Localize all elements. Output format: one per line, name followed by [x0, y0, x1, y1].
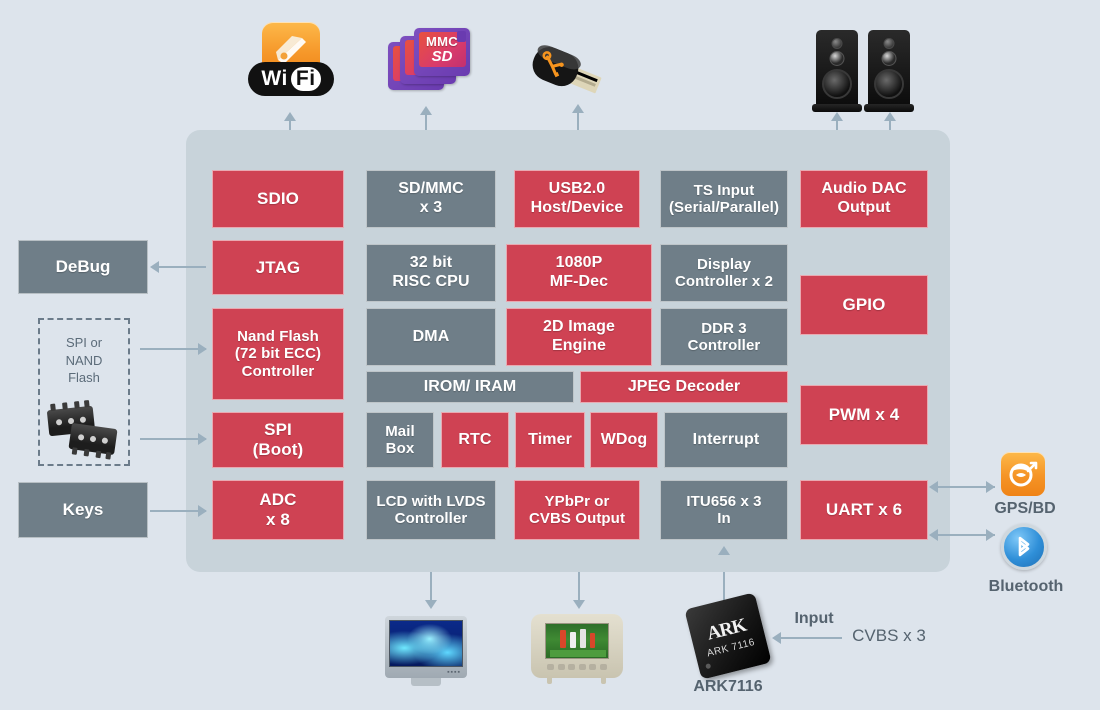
bluetooth-caption: Bluetooth	[976, 578, 1076, 596]
block-spi-boot[interactable]: SPI (Boot)	[212, 412, 344, 468]
block-interrupt[interactable]: Interrupt	[664, 412, 788, 468]
block-ddr3-controller[interactable]: DDR 3 Controller	[660, 308, 788, 366]
arrow-gps-right	[986, 481, 995, 493]
block-irom-iram[interactable]: IROM/ IRAM	[366, 371, 574, 403]
block-sdio[interactable]: SDIO	[212, 170, 344, 228]
block-adc[interactable]: ADC x 8	[212, 480, 344, 540]
arrow-tv-down	[573, 600, 585, 609]
flash-chip-icon-2	[68, 423, 117, 455]
sd-label: SD	[414, 48, 470, 65]
block-label: ITU656 x 3 In	[686, 493, 761, 528]
block-label: PWM x 4	[829, 405, 900, 425]
ext-box-keys[interactable]: Keys	[18, 482, 148, 538]
block-1080p-mf-dec[interactable]: 1080P MF-Dec	[506, 244, 652, 302]
block-ts-input[interactable]: TS Input (Serial/Parallel)	[660, 170, 788, 228]
block-label: Audio DAC Output	[821, 180, 906, 217]
block-label: 2D Image Engine	[543, 318, 615, 355]
arrow-keys-right	[198, 505, 207, 517]
block-uart[interactable]: UART x 6	[800, 480, 928, 540]
block-label: 32 bit RISC CPU	[392, 254, 469, 291]
flash-group-container: SPI or NAND Flash	[38, 318, 130, 466]
block-gpio[interactable]: GPIO	[800, 275, 928, 335]
conn-spi-boot	[140, 438, 206, 440]
block-2d-image-engine[interactable]: 2D Image Engine	[506, 308, 652, 366]
lcd-monitor-icon: ▪▪▪▪	[385, 616, 467, 678]
gps-caption: GPS/BD	[985, 500, 1065, 518]
block-label: YPbPr or CVBS Output	[529, 493, 625, 528]
gps-icon	[1001, 452, 1045, 496]
ext-box-debug[interactable]: DeBug	[18, 240, 148, 294]
conn-debug	[158, 266, 206, 268]
mmc-label: MMC	[414, 34, 470, 49]
wifi-wi-text: Wi	[261, 67, 287, 91]
block-label: RTC	[458, 431, 491, 450]
block-nand-flash-controller[interactable]: Nand Flash (72 bit ECC) Controller	[212, 308, 344, 400]
speaker-icon-right	[868, 30, 910, 112]
block-label: DMA	[413, 328, 450, 347]
block-label: JPEG Decoder	[628, 378, 740, 397]
block-label: Mail Box	[385, 423, 415, 458]
block-mail-box[interactable]: Mail Box	[366, 412, 434, 468]
conn-itu656	[723, 572, 725, 602]
block-sd-mmc[interactable]: SD/MMC x 3	[366, 170, 496, 228]
arrow-cvbs-left	[772, 632, 781, 644]
block-label: GPIO	[843, 295, 886, 315]
arrow-nand-right	[198, 343, 207, 355]
block-label: 1080P MF-Dec	[550, 254, 608, 291]
wifi-wordmark: Wi Fi	[248, 62, 334, 96]
block-pwm[interactable]: PWM x 4	[800, 385, 928, 445]
bluetooth-icon	[1001, 524, 1047, 570]
block-label: DDR 3 Controller	[688, 320, 761, 355]
cvbs-label: CVBS x 3	[844, 626, 934, 646]
block-usb2-host-device[interactable]: USB2.0 Host/Device	[514, 170, 640, 228]
chip-icon: ARK ARK 7116	[684, 592, 771, 679]
conn-spi-nand	[140, 348, 206, 350]
block-jpeg-decoder[interactable]: JPEG Decoder	[580, 371, 788, 403]
block-audio-dac-output[interactable]: Audio DAC Output	[800, 170, 928, 228]
block-risc-cpu[interactable]: 32 bit RISC CPU	[366, 244, 496, 302]
conn-cvbs	[780, 637, 842, 639]
block-label: ADC x 8	[259, 490, 296, 529]
arrow-lcd-down	[425, 600, 437, 609]
arrow-bt-right	[986, 529, 995, 541]
diagram-canvas: Wi Fi MMC SD	[0, 0, 1100, 710]
input-label: Input	[784, 610, 844, 628]
chip-caption: ARK7116	[666, 678, 790, 696]
block-rtc[interactable]: RTC	[441, 412, 509, 468]
sd-mmc-card-icon: MMC SD	[388, 26, 480, 96]
block-jtag[interactable]: JTAG	[212, 240, 344, 295]
block-label: JTAG	[256, 258, 300, 278]
block-display-controller[interactable]: Display Controller x 2	[660, 244, 788, 302]
arrow-itu656-up	[718, 546, 730, 555]
block-label: USB2.0 Host/Device	[531, 180, 624, 217]
arrow-spi-right	[198, 433, 207, 445]
block-wdog[interactable]: WDog	[590, 412, 658, 468]
block-label: Interrupt	[693, 431, 760, 450]
block-label: UART x 6	[826, 500, 902, 520]
block-lcd-lvds-controller[interactable]: LCD with LVDS Controller	[366, 480, 496, 540]
block-dma[interactable]: DMA	[366, 308, 496, 366]
flash-group-label: SPI or NAND Flash	[40, 334, 128, 387]
arrow-debug-left	[150, 261, 159, 273]
block-label: TS Input (Serial/Parallel)	[669, 182, 779, 217]
arrow-bt-left	[929, 529, 938, 541]
block-label: LCD with LVDS Controller	[376, 493, 485, 528]
block-label: Timer	[528, 431, 572, 450]
block-label: SDIO	[257, 189, 299, 209]
ext-box-label: DeBug	[56, 257, 111, 277]
speaker-icon-left	[816, 30, 858, 112]
block-label: Nand Flash (72 bit ECC) Controller	[235, 328, 321, 380]
usb-flash-drive-icon	[528, 30, 624, 96]
headrest-tv-icon	[531, 614, 623, 678]
wifi-fi-text: Fi	[291, 67, 321, 91]
block-itu656-in[interactable]: ITU656 x 3 In	[660, 480, 788, 540]
block-label: SPI (Boot)	[253, 420, 304, 459]
arrow-gps-left	[929, 481, 938, 493]
block-label: IROM/ IRAM	[424, 378, 517, 397]
wifi-icon: Wi Fi	[248, 22, 334, 100]
block-timer[interactable]: Timer	[515, 412, 585, 468]
block-label: SD/MMC x 3	[398, 180, 463, 217]
block-label: Display Controller x 2	[675, 256, 773, 291]
block-label: WDog	[601, 431, 648, 450]
block-ypbpr-cvbs-output[interactable]: YPbPr or CVBS Output	[514, 480, 640, 540]
ext-box-label: Keys	[63, 500, 104, 520]
